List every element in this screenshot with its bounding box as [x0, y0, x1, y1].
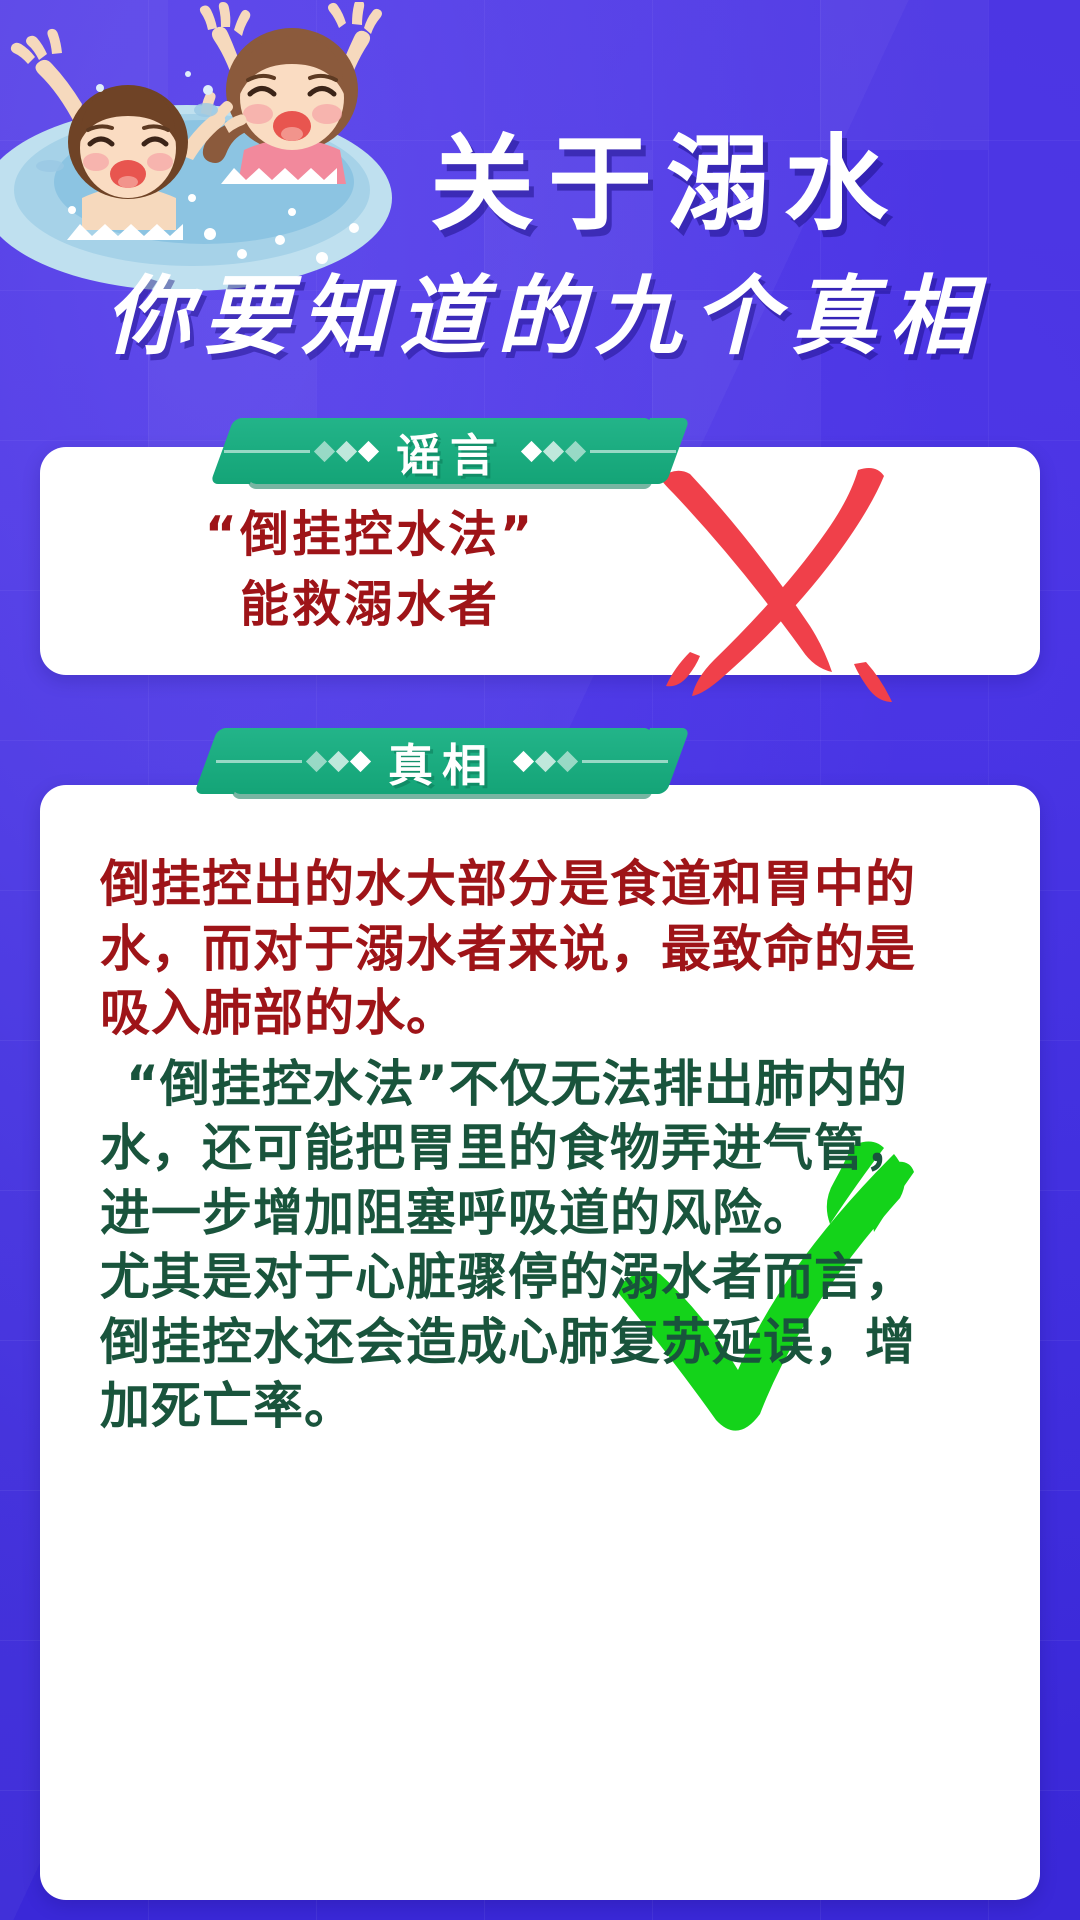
page-title: 关于溺水	[430, 130, 1050, 238]
at-sign-wifi-icon	[378, 1818, 430, 1870]
rumor-banner-label: 谣言	[390, 419, 510, 484]
banner-decoration-left	[224, 444, 376, 459]
footer: @应急管理部 MINISTRY OF EMERGENCY MANAGEMENT	[0, 1818, 1080, 1892]
footer-handle: @应急管理部	[438, 1828, 702, 1870]
truth-banner-label: 真相	[382, 729, 502, 794]
rumor-line: 能救溺水者	[60, 570, 680, 640]
drowning-children-illustration	[0, 2, 412, 292]
truth-line: “倒挂控水法”不仅无法排出肺内的	[100, 1052, 930, 1117]
poster-root: 关于溺水 你要知道的九个真相 谣言 “倒挂控水法” 能救溺水者	[0, 0, 1080, 1920]
truth-paragraph-red: 倒挂控出的水大部分是食道和胃中的 水，而对于溺水者来说，最致命的是 吸入肺部的水…	[100, 852, 930, 1046]
rumor-banner: 谣言	[248, 418, 652, 484]
truth-banner: 真相	[232, 728, 652, 794]
banner-decoration-right	[516, 754, 668, 769]
truth-body-text: 倒挂控出的水大部分是食道和胃中的 水，而对于溺水者来说，最致命的是 吸入肺部的水…	[100, 852, 930, 1439]
footer-logo: @应急管理部	[378, 1818, 702, 1870]
page-subtitle: 你要知道的九个真相	[56, 272, 1036, 362]
truth-line: 水，而对于溺水者来说，最致命的是	[100, 917, 930, 982]
banner-decoration-left	[216, 754, 368, 769]
rumor-text: “倒挂控水法” 能救溺水者	[60, 500, 680, 639]
truth-line: 吸入肺部的水。	[100, 981, 930, 1046]
truth-line: 水，还可能把胃里的食物弄进气管，	[100, 1116, 930, 1181]
truth-line: 尤其是对于心脏骤停的溺水者而言，	[100, 1245, 930, 1310]
truth-line: 进一步增加阻塞呼吸道的风险。	[100, 1181, 930, 1246]
truth-line: 加死亡率。	[100, 1374, 930, 1439]
truth-line: 倒挂控出的水大部分是食道和胃中的	[100, 852, 930, 917]
banner-decoration-right	[524, 444, 676, 459]
truth-paragraph-green: “倒挂控水法”不仅无法排出肺内的 水，还可能把胃里的食物弄进气管， 进一步增加阻…	[100, 1052, 930, 1439]
rumor-line: “倒挂控水法”	[60, 500, 680, 570]
footer-english-name: MINISTRY OF EMERGENCY MANAGEMENT	[387, 1877, 693, 1892]
truth-line: 倒挂控水还会造成心肺复苏延误，增	[100, 1310, 930, 1375]
